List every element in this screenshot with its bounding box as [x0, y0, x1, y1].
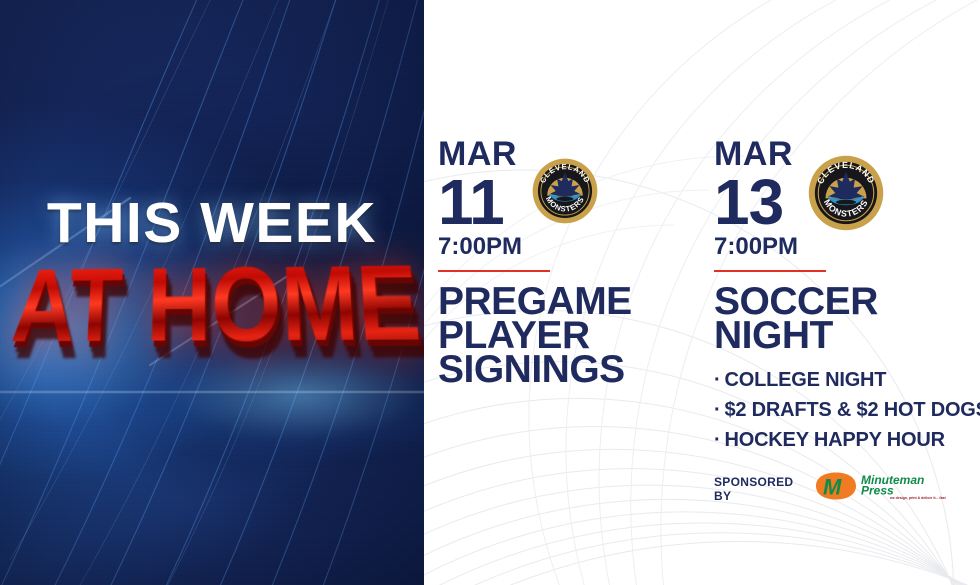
list-item: ·HOCKEY HAPPY HOUR — [714, 425, 979, 455]
content-panel: MAR 11 7:00PM — [424, 0, 980, 585]
event-day: 13 — [714, 173, 798, 231]
svg-text:M: M — [823, 475, 842, 500]
bullet-text: $2 DRAFTS & $2 HOT DOGS — [724, 399, 980, 421]
minuteman-press-logo-icon[interactable]: M P Minuteman Press we design, print & d… — [815, 471, 967, 506]
hero-headline-bottom: AT HOME — [0, 250, 424, 358]
event-title-line: SIGNINGS — [438, 353, 688, 387]
sponsored-by-label: SPONSORED BY — [714, 475, 808, 503]
svg-text:we design, print & deliver it.: we design, print & deliver it... fast — [889, 496, 946, 500]
event-bullet-list: ·COLLEGE NIGHT ·$2 DRAFTS & $2 HOT DOGS … — [714, 365, 979, 455]
event-date-block: MAR 11 7:00PM — [438, 137, 522, 260]
hero-panel: THIS WEEK AT HOME AT HOME — [0, 0, 424, 585]
event-day: 11 — [438, 173, 522, 231]
sponsor-block: SPONSORED BY M P Minuteman Press we desi… — [714, 471, 967, 506]
event-divider-rule — [438, 270, 550, 272]
event-header: MAR 13 7:00PM — [714, 137, 979, 260]
list-item: ·$2 DRAFTS & $2 HOT DOGS — [714, 395, 979, 425]
event-header: MAR 11 7:00PM — [438, 137, 688, 260]
hero-headline-bottom-wrap: AT HOME AT HOME — [0, 254, 424, 366]
event-time: 7:00PM — [714, 234, 798, 260]
bullet-text: HOCKEY HAPPY HOUR — [724, 429, 944, 451]
svg-text:P: P — [841, 478, 854, 498]
event-card[interactable]: MAR 13 7:00PM — [714, 137, 979, 506]
poster-canvas: THIS WEEK AT HOME AT HOME — [0, 0, 980, 585]
bullet-marker-icon: · — [714, 429, 720, 451]
bullet-marker-icon: · — [714, 369, 720, 391]
event-time: 7:00PM — [438, 234, 522, 260]
event-title: SOCCER NIGHT — [714, 285, 979, 353]
list-item: ·COLLEGE NIGHT — [714, 365, 979, 395]
event-card[interactable]: MAR 11 7:00PM — [438, 137, 688, 387]
event-title: PREGAME PLAYER SIGNINGS — [438, 285, 688, 387]
hero-title: THIS WEEK AT HOME AT HOME — [0, 196, 424, 366]
cleveland-monsters-logo-icon: CLEVELAND MONSTERS — [532, 158, 598, 229]
event-title-line: NIGHT — [714, 319, 979, 353]
event-date-block: MAR 13 7:00PM — [714, 137, 798, 260]
cleveland-monsters-logo-icon: CLEVELAND MONSTERS — [808, 155, 884, 236]
bullet-text: COLLEGE NIGHT — [724, 369, 886, 391]
svg-text:Press: Press — [861, 484, 894, 498]
events-list: MAR 11 7:00PM — [424, 0, 980, 585]
event-divider-rule — [714, 270, 826, 272]
bullet-marker-icon: · — [714, 399, 720, 421]
